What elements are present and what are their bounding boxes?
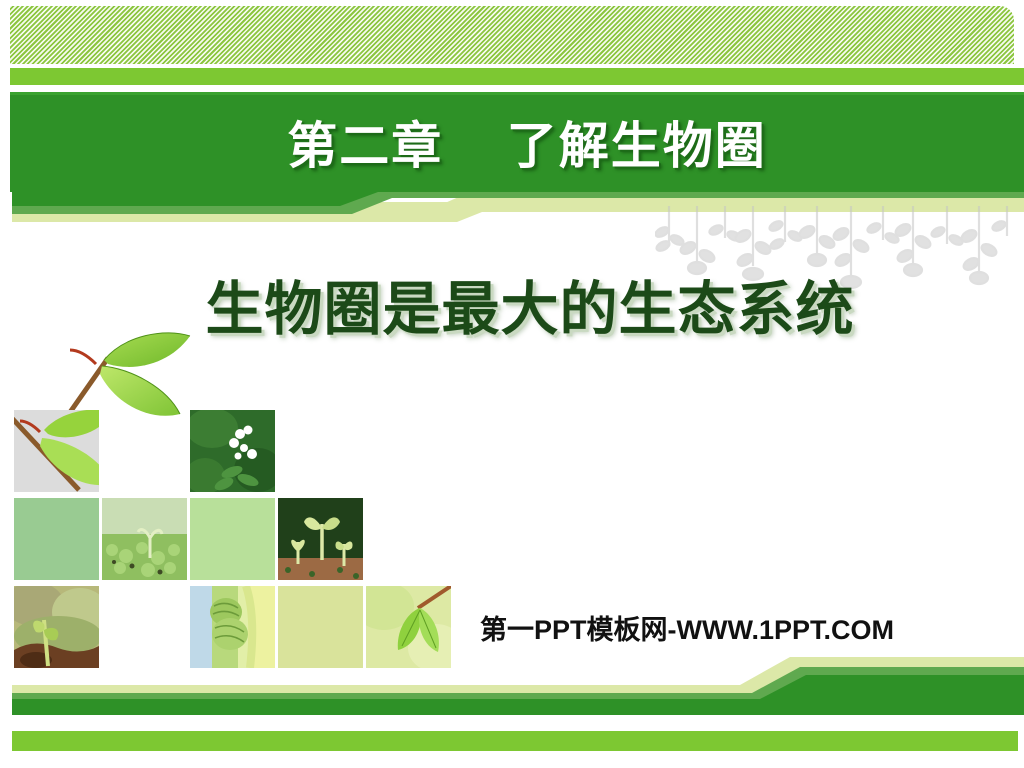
tile-white-flowers	[190, 410, 275, 492]
tile-solid-soft-green	[14, 498, 99, 580]
tile-sprout-moss	[102, 498, 187, 580]
chapter-title-band: 第二章 了解生物圈	[10, 92, 1024, 192]
tile-solid-pale-green	[190, 498, 275, 580]
top-light-green-bar	[10, 68, 1024, 85]
watermark-text: 第一PPT模板网-WWW.1PPT.COM	[480, 608, 894, 647]
bottom-light-green-bar	[12, 731, 1018, 751]
chapter-title-text: 第二章 了解生物圈	[10, 92, 1024, 192]
photo-mosaic	[14, 410, 404, 672]
tile-three-seedlings	[278, 498, 363, 580]
footer-chevron-decoration	[0, 655, 1024, 715]
tile-leaf-branch-gray	[14, 410, 99, 492]
top-hatched-band	[10, 6, 1014, 64]
slide-canvas: 第二章 了解生物圈	[0, 0, 1024, 768]
